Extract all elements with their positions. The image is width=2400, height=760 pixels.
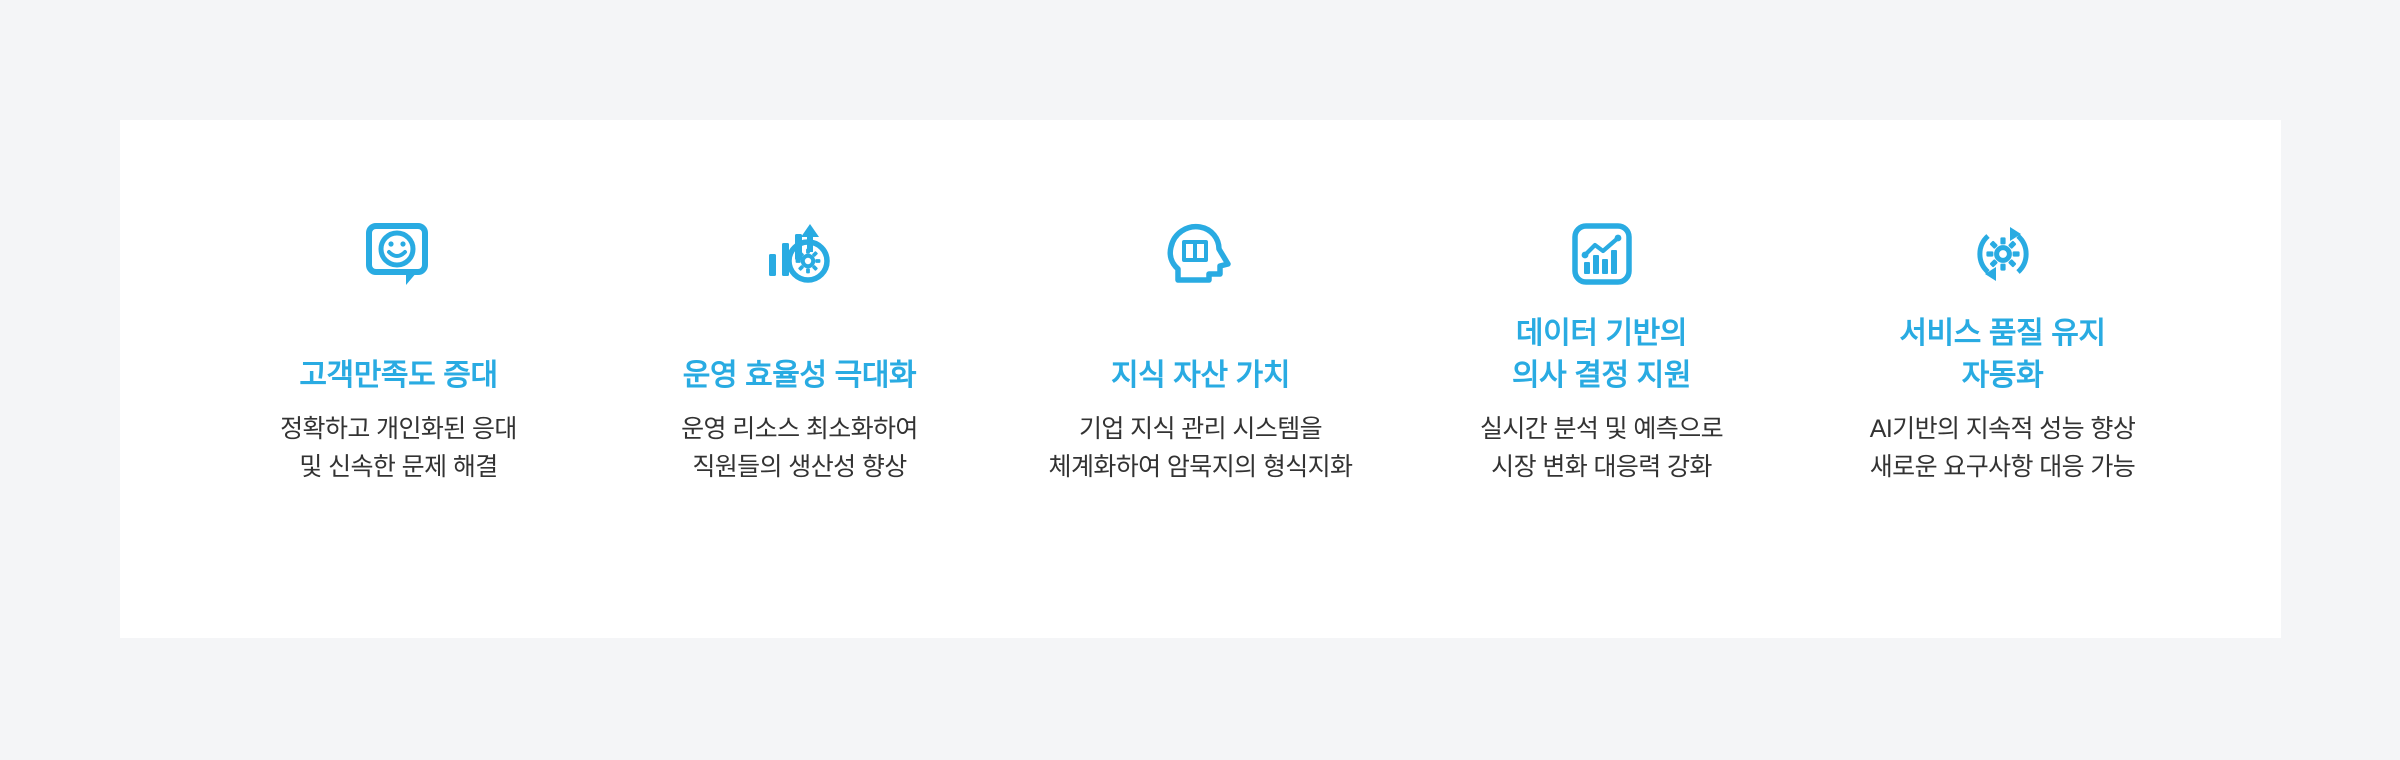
- chart-analytics-frame-icon: [1401, 218, 1802, 294]
- benefit-card-description: 운영 리소스 최소화하여 직원들의 생산성 향상: [599, 410, 1000, 486]
- benefit-card-title: 지식 자산 가치: [1000, 355, 1401, 398]
- gear-refresh-cycle-icon: [1802, 218, 2203, 294]
- benefit-card[interactable]: 고객만족도 증대 정확하고 개인화된 응대 및 신속한 문제 해결: [198, 120, 599, 638]
- benefit-card[interactable]: 서비스 품질 유지 자동화 AI기반의 지속적 성능 향상 새로운 요구사항 대…: [1802, 120, 2203, 638]
- benefit-card[interactable]: 지식 자산 가치 기업 지식 관리 시스템을 체계화하여 암묵지의 형식지화: [1000, 120, 1401, 638]
- benefit-card-description: 정확하고 개인화된 응대 및 신속한 문제 해결: [198, 410, 599, 486]
- benefit-cards-row: 고객만족도 증대 정확하고 개인화된 응대 및 신속한 문제 해결: [120, 120, 2281, 638]
- benefit-card-title: 고객만족도 증대: [198, 355, 599, 398]
- benefit-card-title: 데이터 기반의 의사 결정 지원: [1401, 313, 1802, 398]
- benefit-card-description: 기업 지식 관리 시스템을 체계화하여 암묵지의 형식지화: [1000, 410, 1401, 486]
- benefit-card[interactable]: 운영 효율성 극대화 운영 리소스 최소화하여 직원들의 생산성 향상: [599, 120, 1000, 638]
- benefit-card-title: 운영 효율성 극대화: [599, 355, 1000, 398]
- benefits-panel: 고객만족도 증대 정확하고 개인화된 응대 및 신속한 문제 해결: [120, 120, 2281, 638]
- benefit-card-title: 서비스 품질 유지 자동화: [1802, 313, 2203, 398]
- head-with-book-icon: [1000, 218, 1401, 294]
- benefit-card-description: 실시간 분석 및 예측으로 시장 변화 대응력 강화: [1401, 410, 1802, 486]
- benefit-card[interactable]: 데이터 기반의 의사 결정 지원 실시간 분석 및 예측으로 시장 변화 대응력…: [1401, 120, 1802, 638]
- benefit-card-description: AI기반의 지속적 성능 향상 새로운 요구사항 대응 가능: [1802, 410, 2203, 486]
- bar-chart-arrow-gear-icon: [599, 218, 1000, 294]
- screenshot-stage: 고객만족도 증대 정확하고 개인화된 응대 및 신속한 문제 해결: [0, 0, 2400, 760]
- smiley-speech-bubble-icon: [198, 218, 599, 294]
